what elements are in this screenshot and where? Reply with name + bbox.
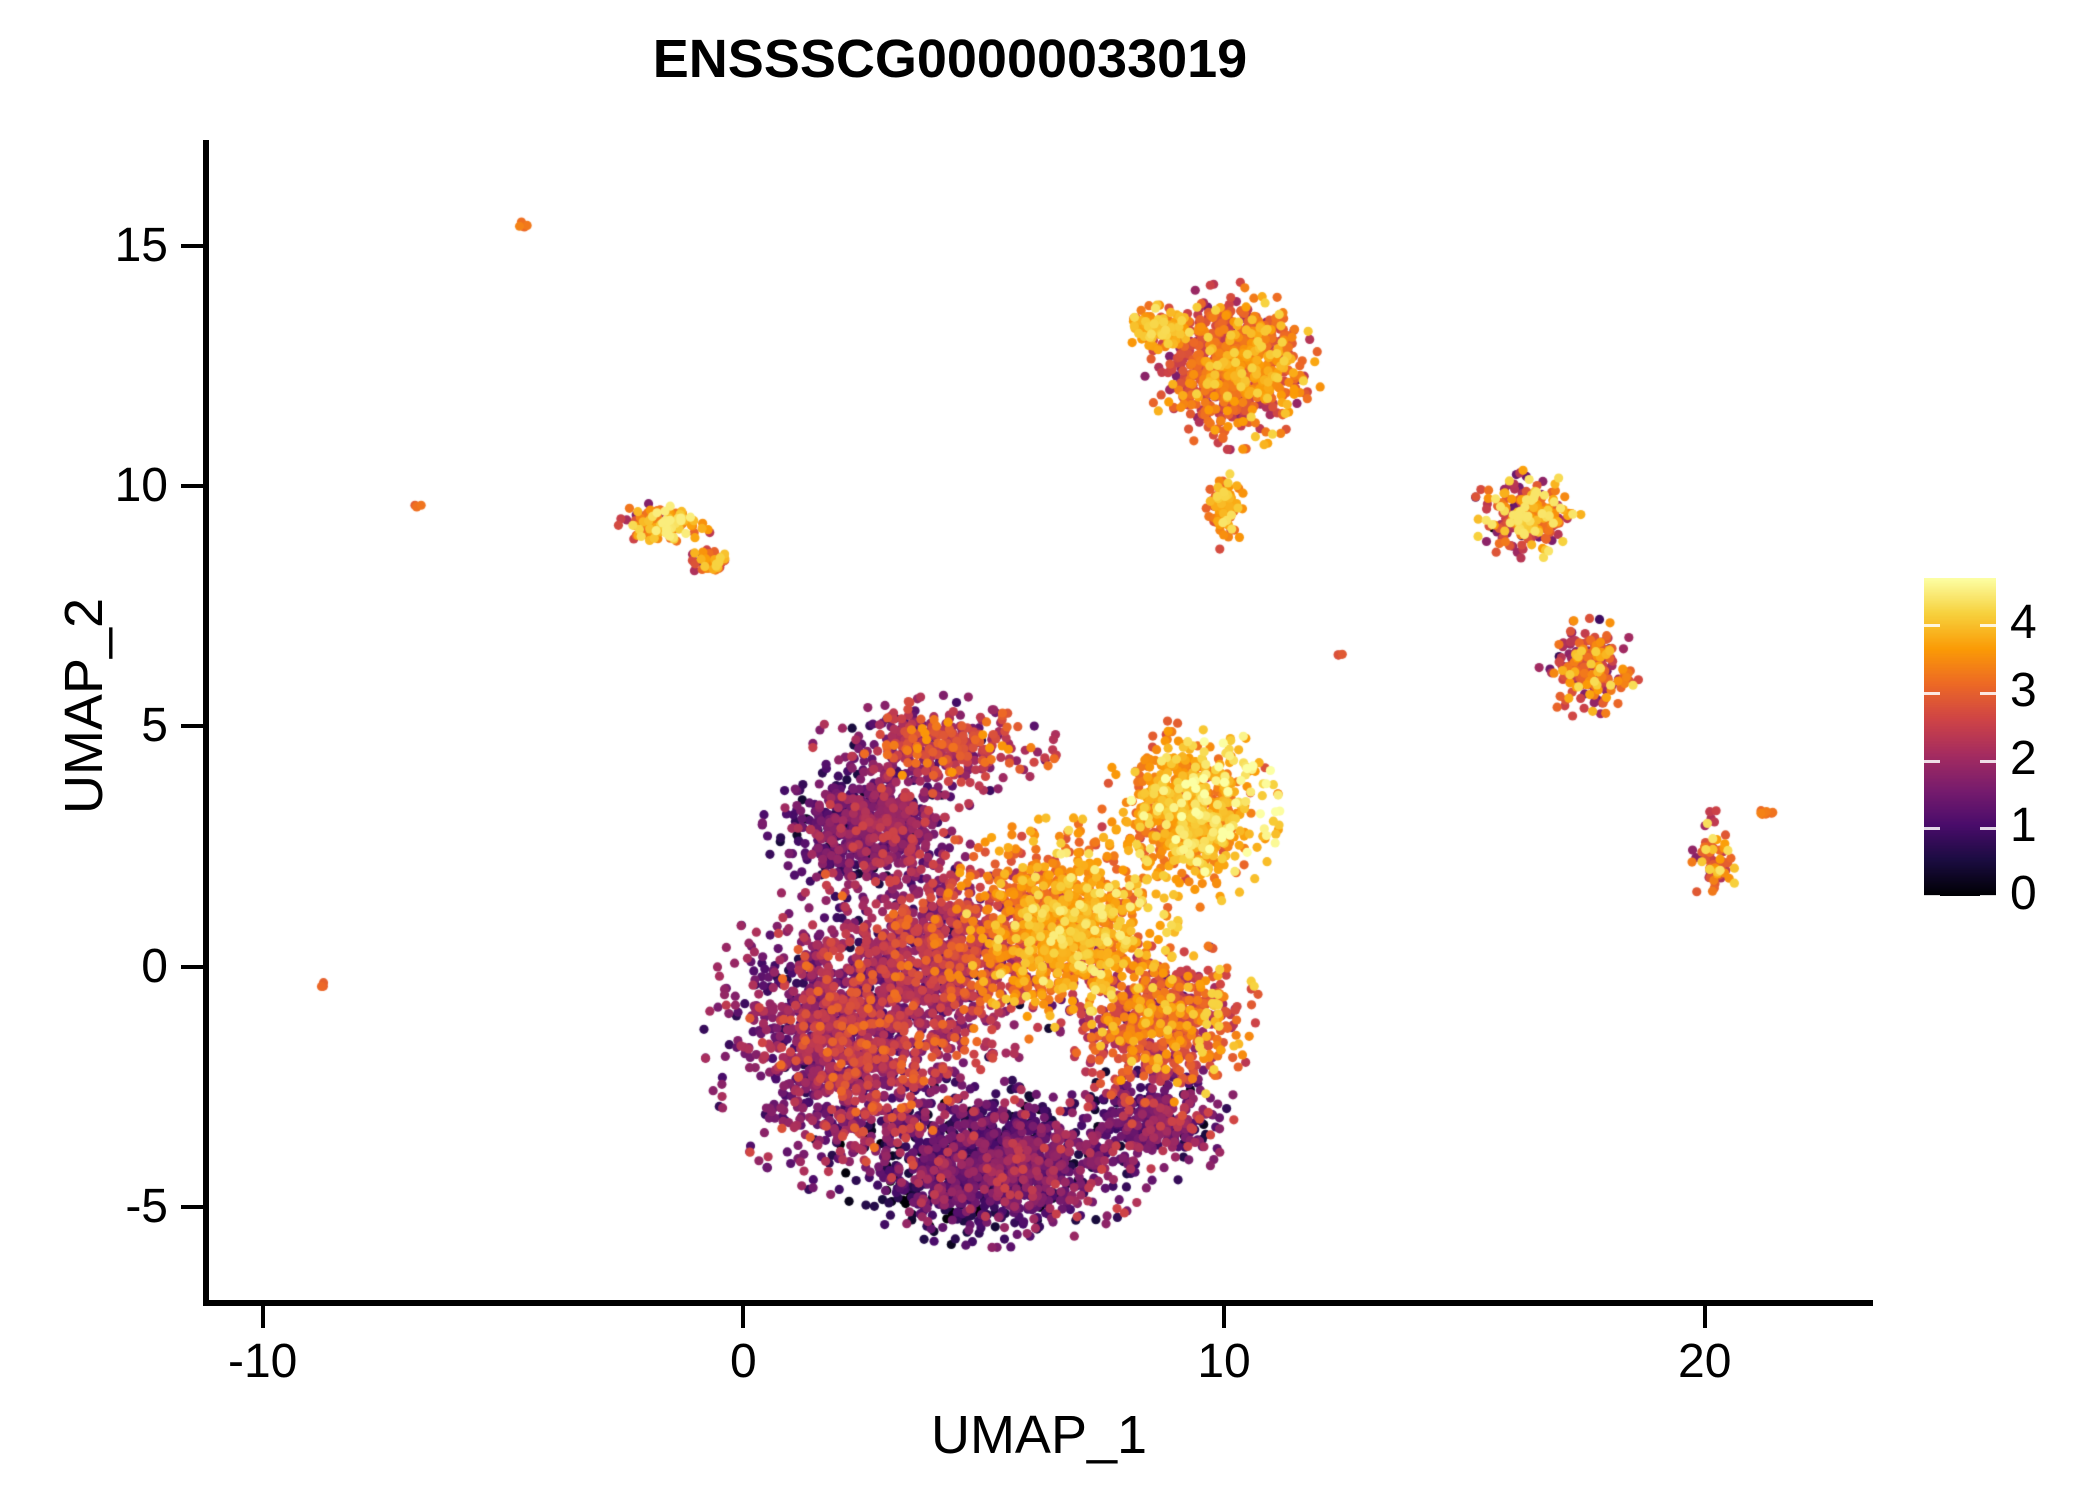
x-tick-label: -10 (163, 1334, 363, 1389)
colorbar-tick-mark (1980, 827, 1996, 830)
colorbar-tick-mark (1980, 895, 1996, 898)
x-tick-mark (261, 1306, 265, 1328)
colorbar-tick-mark (1924, 827, 1940, 830)
colorbar-tick-label: 2 (2010, 735, 2037, 783)
y-tick-mark (181, 1205, 203, 1209)
y-tick-mark (181, 244, 203, 248)
colorbar-tick-label: 0 (2010, 870, 2037, 918)
y-tick-mark (181, 965, 203, 969)
colorbar-tick-mark (1980, 760, 1996, 763)
scatter-plot-canvas (205, 140, 1873, 1303)
colorbar-tick-mark (1924, 760, 1940, 763)
colorbar-tick-mark (1924, 895, 1940, 898)
colorbar-tick-label: 4 (2010, 599, 2037, 647)
umap-feature-plot: ENSSSCG00000033019 -1001020 151050-5 UMA… (0, 0, 2100, 1500)
y-tick-label: -5 (0, 1179, 168, 1234)
x-tick-mark (741, 1306, 745, 1328)
colorbar-tick-label: 3 (2010, 667, 2037, 715)
x-tick-label: 0 (643, 1334, 843, 1389)
y-tick-mark (181, 724, 203, 728)
colorbar-tick-mark (1980, 624, 1996, 627)
x-axis-line (203, 1300, 1873, 1306)
y-axis-label: UMAP_2 (53, 306, 115, 1106)
colorbar-legend (1924, 578, 1996, 896)
colorbar-tick-mark (1980, 692, 1996, 695)
plot-panel (205, 140, 1873, 1303)
x-tick-mark (1222, 1306, 1226, 1328)
page-title: ENSSSCG00000033019 (0, 28, 1900, 90)
colorbar-tick-mark (1924, 692, 1940, 695)
y-tick-label: 15 (0, 218, 168, 273)
x-tick-label: 10 (1124, 1334, 1324, 1389)
colorbar-tick-mark (1924, 624, 1940, 627)
y-tick-mark (181, 484, 203, 488)
x-tick-label: 20 (1605, 1334, 1805, 1389)
colorbar-tick-label: 1 (2010, 802, 2037, 850)
y-axis-line (203, 140, 209, 1306)
x-tick-mark (1703, 1306, 1707, 1328)
x-axis-label: UMAP_1 (205, 1404, 1873, 1466)
